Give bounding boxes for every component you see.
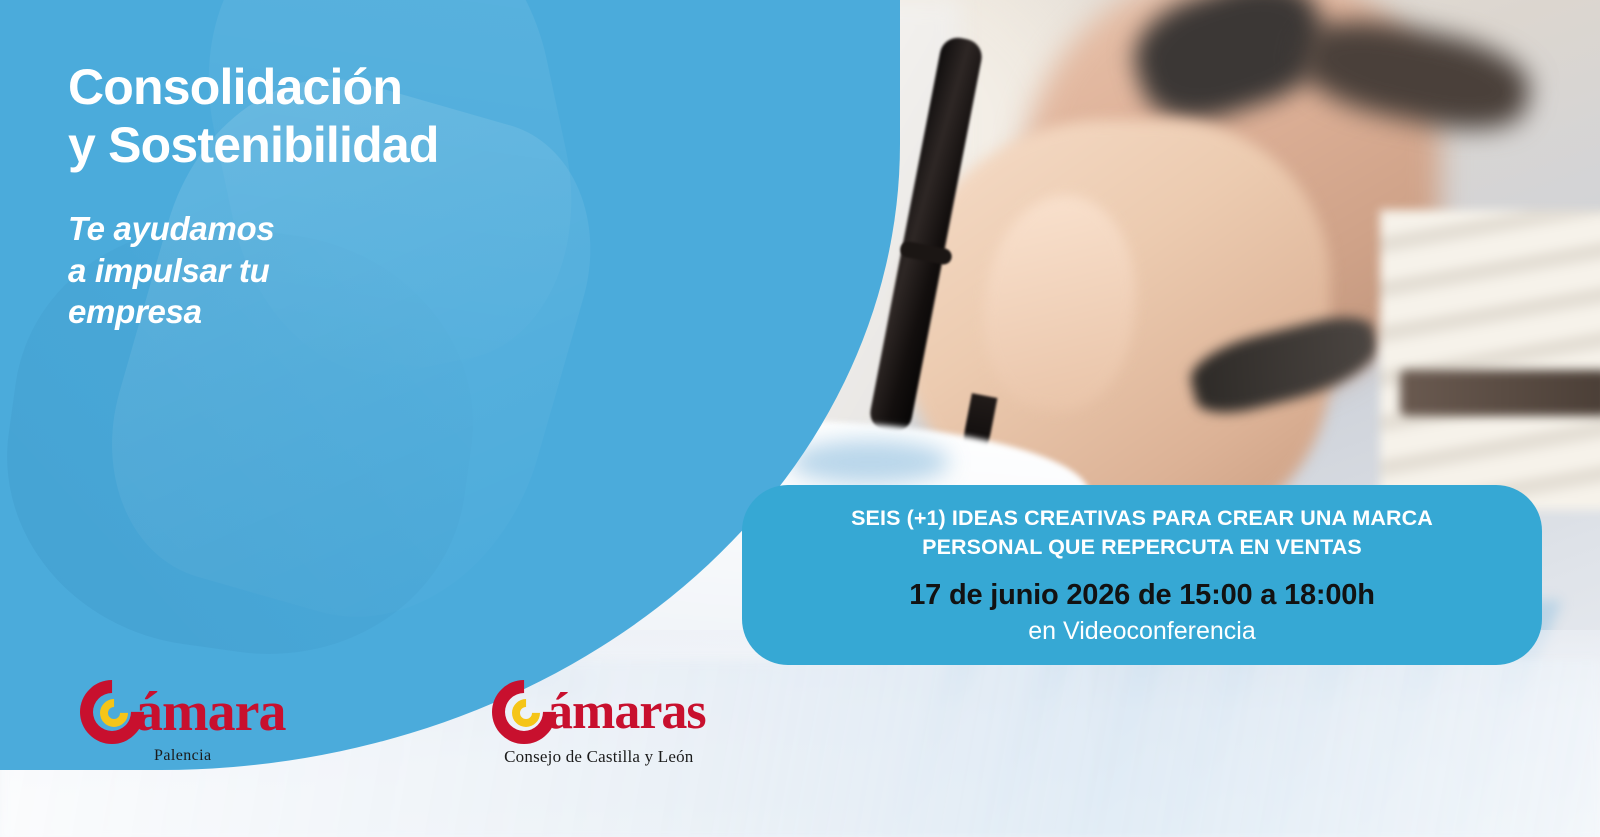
chart-accent-3 <box>790 440 950 484</box>
camaras-c-icon <box>492 680 556 744</box>
promotional-banner: Consolidación y Sostenibilidad Te ayudam… <box>0 0 1600 837</box>
subtitle-line-1: Te ayudamos <box>68 210 274 247</box>
headline-line-1: Consolidación <box>68 59 402 115</box>
camara-subtitle: Palencia <box>80 747 286 765</box>
books-stack <box>1380 210 1600 510</box>
camaras-lockup: ámaras <box>492 680 706 744</box>
headline-block: Consolidación y Sostenibilidad Te ayudam… <box>68 58 688 333</box>
event-title-line-1: SEIS (+1) IDEAS CREATIVAS PARA CREAR UNA… <box>851 506 1433 530</box>
camara-c-icon <box>80 680 144 744</box>
camaras-subtitle: Consejo de Castilla y León <box>492 747 706 767</box>
logo-camaras-consejo[interactable]: ámaras Consejo de Castilla y León <box>492 680 706 767</box>
event-info-box: SEIS (+1) IDEAS CREATIVAS PARA CREAR UNA… <box>742 485 1542 665</box>
book-spine <box>1400 370 1600 416</box>
footer-logos: ámara Palencia ámaras Consejo de Castill… <box>0 672 1600 837</box>
camara-wordmark: ámara <box>135 684 286 740</box>
subtitle-line-2: a impulsar tu <box>68 252 269 289</box>
camara-lockup: ámara <box>80 680 286 744</box>
headline-line-2: y Sostenibilidad <box>68 117 439 173</box>
event-title: SEIS (+1) IDEAS CREATIVAS PARA CREAR UNA… <box>851 504 1433 562</box>
page-title: Consolidación y Sostenibilidad <box>68 58 688 174</box>
camaras-wordmark: ámaras <box>547 686 706 738</box>
subtitle: Te ayudamos a impulsar tu empresa <box>68 208 688 333</box>
subtitle-line-3: empresa <box>68 293 202 330</box>
logo-camara-palencia[interactable]: ámara Palencia <box>80 680 286 765</box>
event-title-line-2: PERSONAL QUE REPERCUTA EN VENTAS <box>922 535 1362 559</box>
event-date: 17 de junio 2026 de 15:00 a 18:00h <box>909 578 1375 613</box>
event-mode: en Videoconferencia <box>1028 616 1256 646</box>
